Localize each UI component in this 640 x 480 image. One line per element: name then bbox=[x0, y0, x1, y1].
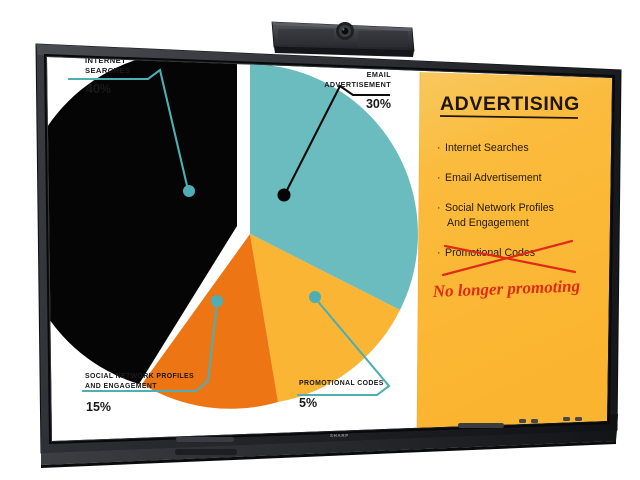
pie-marker-dot bbox=[211, 295, 223, 307]
pie-label-internet-searches-line2: SEARCHES bbox=[85, 66, 130, 75]
control-button-b[interactable] bbox=[531, 419, 538, 423]
pie-label-email-advertisement-line1: EMAIL bbox=[367, 70, 392, 79]
bullet-label-and-engagement[interactable]: And Engagement bbox=[447, 217, 529, 229]
front-port-slot-right[interactable] bbox=[458, 423, 504, 428]
bullet-marker-1: · bbox=[437, 172, 441, 184]
pie-marker-dot bbox=[183, 185, 195, 197]
advertising-panel: ADVERTISING · Internet Searches · Email … bbox=[417, 72, 612, 428]
bullet-marker-4: · bbox=[437, 247, 441, 259]
pie-marker-dot bbox=[278, 189, 291, 202]
bullet-label-email-advertisement[interactable]: Email Advertisement bbox=[445, 172, 542, 184]
bullet-marker-2: · bbox=[437, 202, 441, 214]
bullet-marker-0: · bbox=[437, 142, 441, 154]
camera-soundbar-accessory[interactable] bbox=[272, 22, 414, 57]
camera-lens-icon bbox=[336, 22, 354, 40]
control-button-a[interactable] bbox=[519, 419, 526, 423]
screenshot-stage: INTERNET SEARCHES 40% EMAIL ADVERTISEMEN… bbox=[0, 0, 640, 480]
front-port-slot-left[interactable] bbox=[176, 437, 234, 442]
speaker-grille-left bbox=[278, 29, 334, 45]
pie-label-email-advertisement-line2: ADVERTISEMENT bbox=[324, 80, 391, 89]
brand-logo: SHARP bbox=[330, 433, 349, 438]
pie-value-email-advertisement: 30% bbox=[366, 97, 391, 111]
pie-value-promotional-codes: 5% bbox=[299, 396, 317, 410]
interactive-display-device: INTERNET SEARCHES 40% EMAIL ADVERTISEMEN… bbox=[0, 0, 640, 480]
display-screen[interactable]: INTERNET SEARCHES 40% EMAIL ADVERTISEMEN… bbox=[18, 52, 612, 441]
control-button-d[interactable] bbox=[575, 417, 582, 421]
base-vent-slot bbox=[175, 449, 237, 455]
pie-label-promotional-codes: PROMOTIONAL CODES bbox=[299, 380, 384, 387]
bullet-label-internet-searches[interactable]: Internet Searches bbox=[445, 142, 529, 154]
speaker-grille-right bbox=[358, 31, 408, 47]
pie-value-social-network: 15% bbox=[86, 400, 111, 414]
pie-label-social-network-line2: AND ENGAGEMENT bbox=[85, 383, 157, 390]
pie-marker-dot bbox=[309, 291, 321, 303]
bullet-label-social-network-profiles[interactable]: Social Network Profiles bbox=[445, 202, 554, 214]
control-button-c[interactable] bbox=[563, 417, 570, 421]
pie-value-internet-searches: 40% bbox=[86, 82, 111, 96]
pie-label-social-network-line1: SOCIAL NETWORK PROFILES bbox=[85, 373, 194, 380]
panel-title: ADVERTISING bbox=[440, 93, 580, 115]
